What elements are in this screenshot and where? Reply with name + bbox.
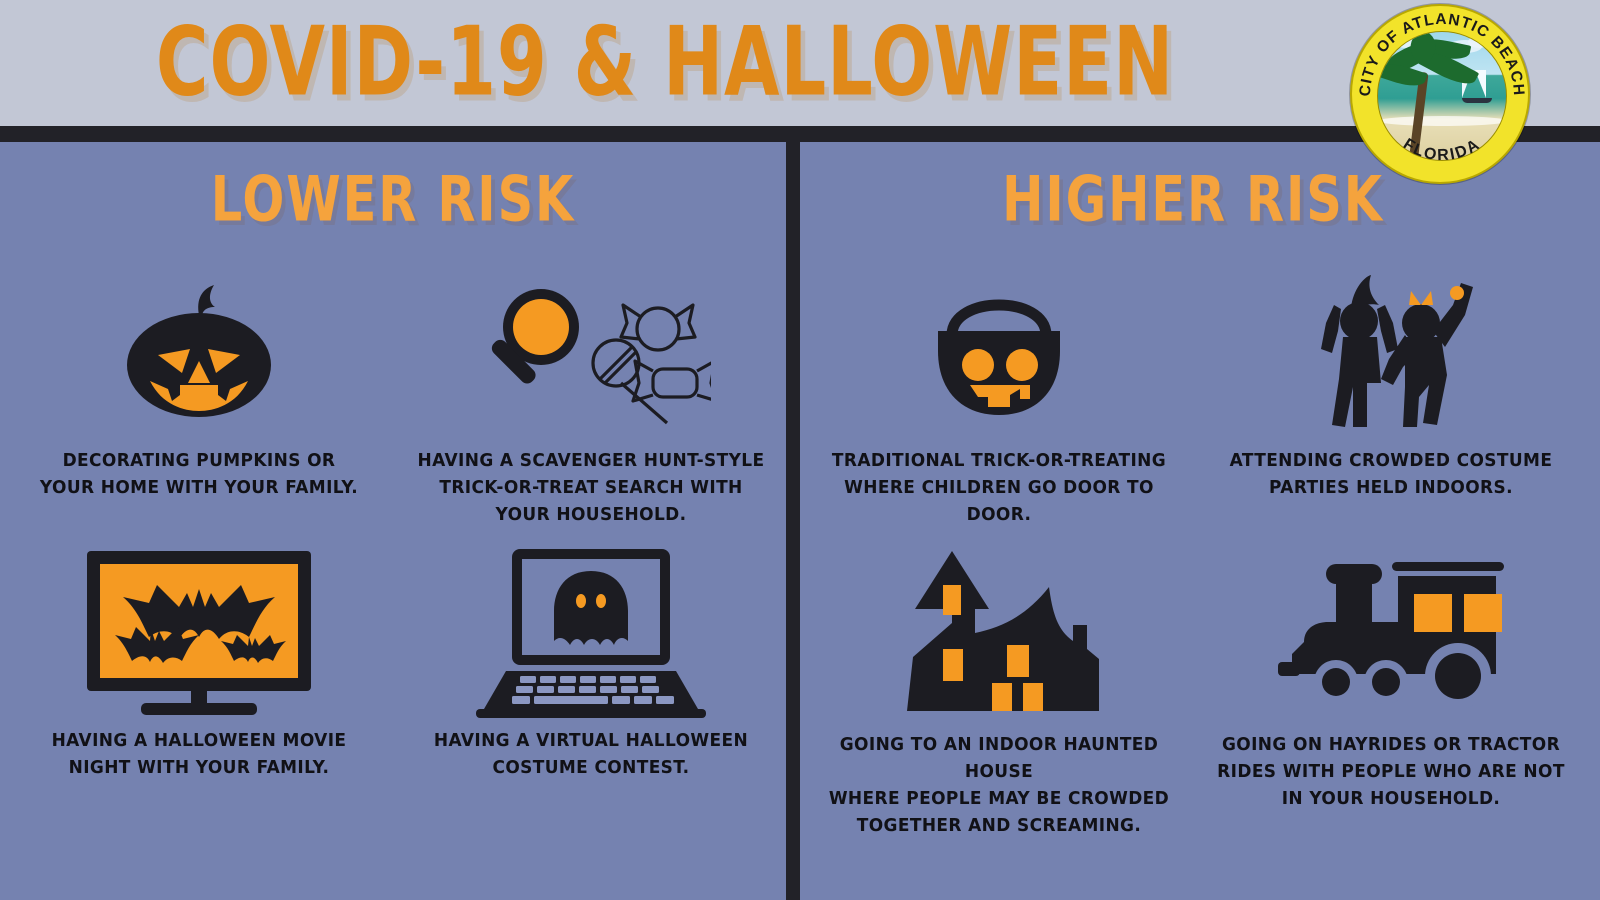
item-caption: HAVING A HALLOWEEN MOVIE NIGHT WITH YOUR… — [10, 728, 388, 782]
item-traditional-trick-or-treating: TRADITIONAL TRICK-OR-TREATING WHERE CHIL… — [804, 262, 1194, 529]
seal-bottom-text: FLORIDA — [1400, 136, 1484, 165]
city-seal-logo: CITY OF ATLANTIC BEACH FLORIDA — [1350, 4, 1530, 184]
laptop-ghost-icon — [396, 542, 786, 722]
item-hayrides-tractor-rides: GOING ON HAYRIDES OR TRACTOR RIDES WITH … — [1196, 542, 1586, 813]
jack-o-lantern-icon — [4, 262, 394, 442]
item-scavenger-hunt: HAVING A SCAVENGER HUNT-STYLE TRICK-OR-T… — [396, 262, 786, 529]
television-bats-icon — [4, 542, 394, 722]
column-divider — [786, 142, 800, 900]
seal-top-text: CITY OF ATLANTIC BEACH — [1357, 11, 1527, 97]
item-virtual-costume-contest: HAVING A VIRTUAL HALLOWEEN COSTUME CONTE… — [396, 542, 786, 782]
item-halloween-movie-night: HAVING A HALLOWEEN MOVIE NIGHT WITH YOUR… — [4, 542, 394, 782]
item-caption: GOING TO AN INDOOR HAUNTED HOUSE WHERE P… — [810, 732, 1188, 841]
seal-top-textpath: CITY OF ATLANTIC BEACH — [1357, 11, 1527, 97]
column-lower-risk: LOWER RISK DECORATING PUMPKINS OR YOUR H… — [0, 142, 786, 900]
item-caption: HAVING A VIRTUAL HALLOWEEN COSTUME CONTE… — [402, 728, 780, 782]
seal-bottom-textpath: FLORIDA — [1400, 136, 1484, 165]
page-title: COVID-19 & HALLOWEEN — [53, 8, 1277, 118]
item-crowded-costume-parties: ATTENDING CROWDED COSTUME PARTIES HELD I… — [1196, 262, 1586, 502]
costume-party-dancers-icon — [1196, 262, 1586, 442]
item-caption: ATTENDING CROWDED COSTUME PARTIES HELD I… — [1202, 448, 1580, 502]
magnifying-glass-candy-icon — [396, 262, 786, 442]
seal-ring-text: CITY OF ATLANTIC BEACH FLORIDA — [1352, 6, 1532, 186]
item-caption: DECORATING PUMPKINS OR YOUR HOME WITH YO… — [10, 448, 388, 502]
steam-train-icon — [1196, 542, 1586, 722]
column-heading-lower-risk: LOWER RISK — [20, 164, 767, 236]
content-board: LOWER RISK DECORATING PUMPKINS OR YOUR H… — [0, 142, 1600, 900]
item-caption: HAVING A SCAVENGER HUNT-STYLE TRICK-OR-T… — [402, 448, 780, 529]
column-higher-risk: HIGHER RISK TRADITIONAL TRICK-OR-TREATIN… — [800, 142, 1586, 900]
item-caption: TRADITIONAL TRICK-OR-TREATING WHERE CHIL… — [810, 448, 1188, 529]
item-indoor-haunted-house: GOING TO AN INDOOR HAUNTED HOUSE WHERE P… — [804, 542, 1194, 841]
item-decorating-pumpkins: DECORATING PUMPKINS OR YOUR HOME WITH YO… — [4, 262, 394, 502]
trick-or-treat-bucket-icon — [804, 262, 1194, 442]
item-caption: GOING ON HAYRIDES OR TRACTOR RIDES WITH … — [1202, 732, 1580, 813]
haunted-house-icon — [804, 542, 1194, 722]
